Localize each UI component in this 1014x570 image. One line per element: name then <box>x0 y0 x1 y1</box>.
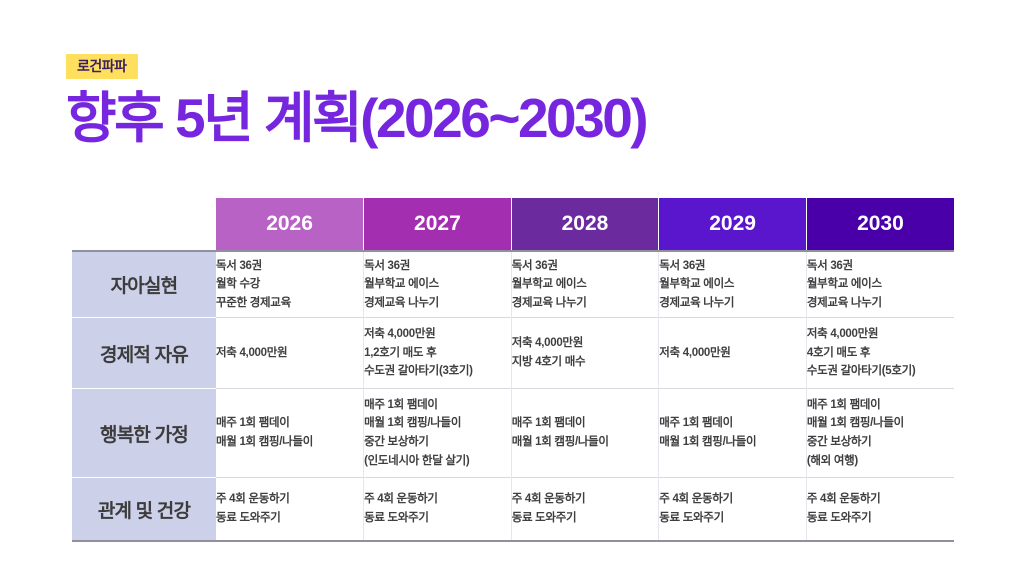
cell-line-0: 독서 36권 <box>216 257 363 276</box>
cell-line-2: 중간 보상하기 <box>364 433 511 452</box>
cell-line-3: (인도네시아 한달 살기) <box>364 452 511 471</box>
cell-line-2: 경제교육 나누기 <box>364 294 511 313</box>
cell-financial-freedom-2028: 저축 4,000만원지방 4호기 매수 <box>511 318 659 389</box>
cell-relationship-health-2030: 주 4회 운동하기동료 도와주기 <box>806 478 954 542</box>
cell-happy-family-2028: 매주 1회 팸데이매월 1회 캠핑/나들이 <box>511 389 659 478</box>
table-row-financial-freedom: 경제적 자유 저축 4,000만원 저축 4,000만원1,2호기 매도 후수도… <box>72 318 954 389</box>
cell-line-2: 수도권 갈아타기(3호기) <box>364 362 511 381</box>
cell-line-2: 경제교육 나누기 <box>659 294 806 313</box>
table-row-self-realization: 자아실현 독서 36권월학 수강꾸준한 경제교육 독서 36권월부학교 에이스경… <box>72 251 954 318</box>
column-header-2030: 2030 <box>806 198 954 251</box>
cell-line-1: 월학 수강 <box>216 275 363 294</box>
column-header-2029: 2029 <box>659 198 807 251</box>
cell-line-1: 지방 4호기 매수 <box>512 353 659 372</box>
cell-line-0: 저축 4,000만원 <box>512 334 659 353</box>
cell-line-0: 주 4회 운동하기 <box>216 490 363 509</box>
cell-line-0: 독서 36권 <box>659 257 806 276</box>
table-header: 2026 2027 2028 2029 2030 <box>72 198 954 251</box>
cell-line-1: 1,2호기 매도 후 <box>364 344 511 363</box>
cell-line-1: 월부학교 에이스 <box>807 275 954 294</box>
cell-line-1: 매월 1회 캠핑/나들이 <box>659 433 806 452</box>
cell-line-0: 매주 1회 팸데이 <box>659 414 806 433</box>
cell-line-1: 4호기 매도 후 <box>807 344 954 363</box>
cell-line-0: 독서 36권 <box>364 257 511 276</box>
cell-line-1: 매월 1회 캠핑/나들이 <box>807 414 954 433</box>
cell-line-1: 월부학교 에이스 <box>512 275 659 294</box>
cell-line-0: 주 4회 운동하기 <box>807 490 954 509</box>
cell-line-0: 매주 1회 팸데이 <box>216 414 363 433</box>
cell-relationship-health-2026: 주 4회 운동하기동료 도와주기 <box>216 478 364 542</box>
cell-financial-freedom-2029: 저축 4,000만원 <box>659 318 807 389</box>
row-label-financial-freedom: 경제적 자유 <box>72 318 216 389</box>
cell-line-0: 매주 1회 팸데이 <box>364 396 511 415</box>
cell-line-1: 동료 도와주기 <box>216 509 363 528</box>
brand-badge: 로건파파 <box>66 54 138 79</box>
cell-line-0: 저축 4,000만원 <box>216 344 363 363</box>
cell-line-1: 동료 도와주기 <box>807 509 954 528</box>
cell-happy-family-2026: 매주 1회 팸데이매월 1회 캠핑/나들이 <box>216 389 364 478</box>
cell-financial-freedom-2027: 저축 4,000만원1,2호기 매도 후수도권 갈아타기(3호기) <box>364 318 512 389</box>
column-header-2028: 2028 <box>511 198 659 251</box>
cell-line-1: 매월 1회 캠핑/나들이 <box>364 414 511 433</box>
cell-line-1: 동료 도와주기 <box>512 509 659 528</box>
cell-financial-freedom-2030: 저축 4,000만원4호기 매도 후수도권 갈아타기(5호기) <box>806 318 954 389</box>
column-header-2027: 2027 <box>364 198 512 251</box>
cell-line-1: 동료 도와주기 <box>364 509 511 528</box>
cell-self-realization-2030: 독서 36권월부학교 에이스경제교육 나누기 <box>806 251 954 318</box>
cell-line-1: 동료 도와주기 <box>659 509 806 528</box>
cell-self-realization-2027: 독서 36권월부학교 에이스경제교육 나누기 <box>364 251 512 318</box>
cell-line-0: 독서 36권 <box>807 257 954 276</box>
cell-line-1: 월부학교 에이스 <box>364 275 511 294</box>
cell-line-0: 저축 4,000만원 <box>659 344 806 363</box>
five-year-plan-table: 2026 2027 2028 2029 2030 자아실현 독서 36권월학 수… <box>72 198 954 542</box>
cell-happy-family-2030: 매주 1회 팸데이매월 1회 캠핑/나들이중간 보상하기(해외 여행) <box>806 389 954 478</box>
cell-financial-freedom-2026: 저축 4,000만원 <box>216 318 364 389</box>
cell-line-2: 수도권 갈아타기(5호기) <box>807 362 954 381</box>
table-body: 자아실현 독서 36권월학 수강꾸준한 경제교육 독서 36권월부학교 에이스경… <box>72 251 954 541</box>
row-label-self-realization: 자아실현 <box>72 251 216 318</box>
cell-relationship-health-2028: 주 4회 운동하기동료 도와주기 <box>511 478 659 542</box>
cell-happy-family-2029: 매주 1회 팸데이매월 1회 캠핑/나들이 <box>659 389 807 478</box>
cell-line-1: 매월 1회 캠핑/나들이 <box>512 433 659 452</box>
cell-line-0: 저축 4,000만원 <box>364 325 511 344</box>
cell-relationship-health-2029: 주 4회 운동하기동료 도와주기 <box>659 478 807 542</box>
cell-line-3: (해외 여행) <box>807 452 954 471</box>
cell-line-0: 매주 1회 팸데이 <box>512 414 659 433</box>
cell-line-2: 경제교육 나누기 <box>807 294 954 313</box>
cell-line-0: 주 4회 운동하기 <box>659 490 806 509</box>
cell-line-0: 독서 36권 <box>512 257 659 276</box>
page-title: 향후 5년 계획(2026~2030) <box>66 89 966 147</box>
header-row: 2026 2027 2028 2029 2030 <box>72 198 954 251</box>
cell-line-0: 주 4회 운동하기 <box>512 490 659 509</box>
cell-line-0: 주 4회 운동하기 <box>364 490 511 509</box>
cell-line-1: 매월 1회 캠핑/나들이 <box>216 433 363 452</box>
cell-self-realization-2028: 독서 36권월부학교 에이스경제교육 나누기 <box>511 251 659 318</box>
cell-line-0: 저축 4,000만원 <box>807 325 954 344</box>
cell-happy-family-2027: 매주 1회 팸데이매월 1회 캠핑/나들이중간 보상하기(인도네시아 한달 살기… <box>364 389 512 478</box>
cell-line-2: 경제교육 나누기 <box>512 294 659 313</box>
cell-self-realization-2026: 독서 36권월학 수강꾸준한 경제교육 <box>216 251 364 318</box>
cell-line-0: 매주 1회 팸데이 <box>807 396 954 415</box>
row-label-relationship-health: 관계 및 건강 <box>72 478 216 542</box>
table-row-happy-family: 행복한 가정 매주 1회 팸데이매월 1회 캠핑/나들이 매주 1회 팸데이매월… <box>72 389 954 478</box>
column-header-2026: 2026 <box>216 198 364 251</box>
cell-line-2: 꾸준한 경제교육 <box>216 294 363 313</box>
slide-header: 로건파파 향후 5년 계획(2026~2030) <box>66 54 966 147</box>
table-corner-cell <box>72 198 216 251</box>
cell-line-1: 월부학교 에이스 <box>659 275 806 294</box>
row-label-happy-family: 행복한 가정 <box>72 389 216 478</box>
table-row-relationship-health: 관계 및 건강 주 4회 운동하기동료 도와주기 주 4회 운동하기동료 도와주… <box>72 478 954 542</box>
cell-line-2: 중간 보상하기 <box>807 433 954 452</box>
cell-self-realization-2029: 독서 36권월부학교 에이스경제교육 나누기 <box>659 251 807 318</box>
cell-relationship-health-2027: 주 4회 운동하기동료 도와주기 <box>364 478 512 542</box>
